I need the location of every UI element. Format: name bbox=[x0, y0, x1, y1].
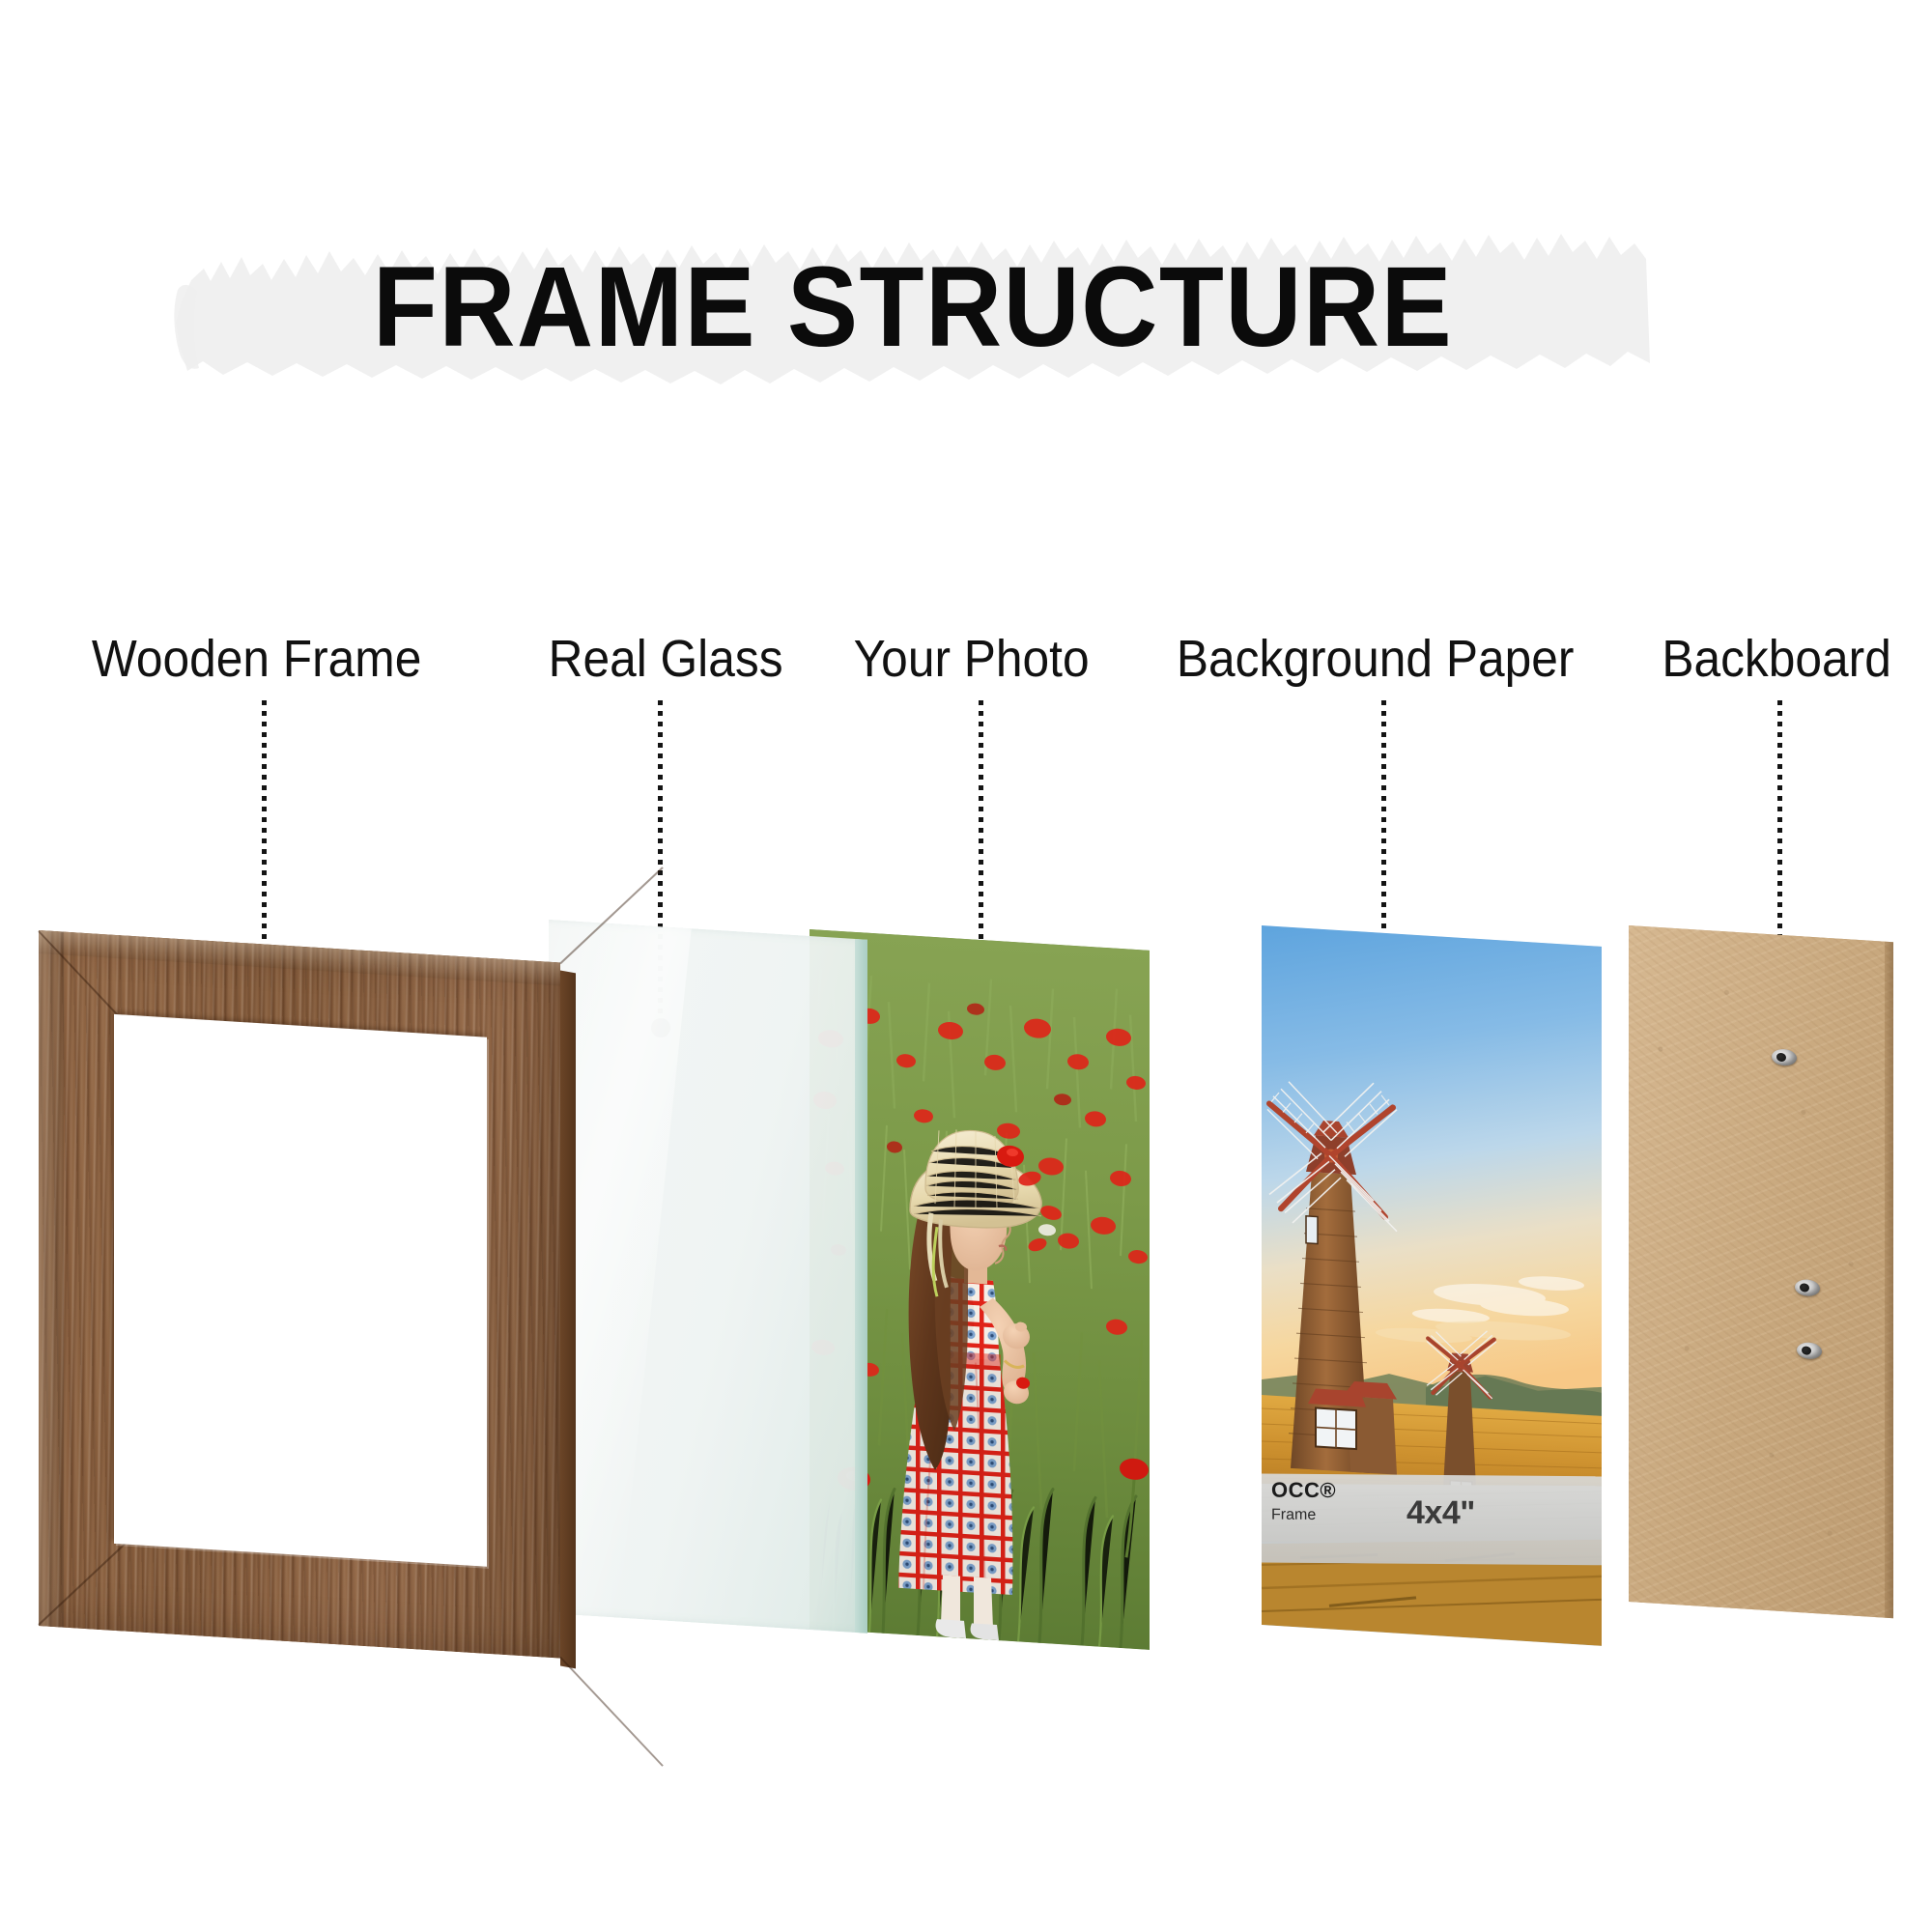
paper-info-band: OCC® Frame 4x4" bbox=[1262, 1474, 1602, 1566]
frame-bevel-top bbox=[39, 930, 560, 985]
frame-face bbox=[39, 930, 560, 1658]
paper-size-label: 4x4" bbox=[1406, 1494, 1475, 1533]
frame-opening bbox=[114, 1014, 487, 1567]
frame-side-edge bbox=[560, 970, 576, 1668]
layer-backboard bbox=[1629, 925, 1893, 1618]
frame-mitre-joint bbox=[559, 1657, 663, 1767]
glass-edge bbox=[855, 939, 867, 1634]
backboard-hardware-eyelet bbox=[1795, 1279, 1820, 1297]
frame-bevel-left bbox=[39, 930, 64, 1628]
layer-wooden-frame bbox=[39, 930, 560, 1658]
backboard-edge bbox=[1885, 942, 1893, 1619]
backboard-hardware-eyelet bbox=[1772, 1048, 1797, 1066]
backboard-hardware-eyelet bbox=[1797, 1342, 1822, 1360]
layer-background-paper: OCC® Frame 4x4" bbox=[1262, 925, 1602, 1646]
paper-brand-subtext: Frame bbox=[1271, 1507, 1316, 1524]
paper-brand-text: OCC® bbox=[1271, 1478, 1336, 1504]
layer-real-glass bbox=[549, 920, 867, 1634]
exploded-view-stage: OCC® Frame 4x4" bbox=[0, 0, 1932, 1932]
